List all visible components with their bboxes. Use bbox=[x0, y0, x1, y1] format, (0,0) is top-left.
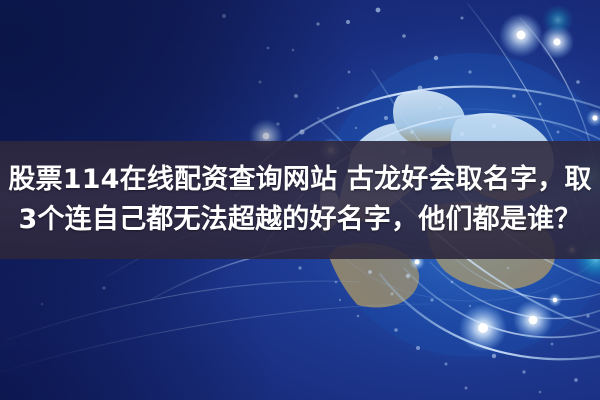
banner-image: 股票114在线配资查询网站 古龙好会取名字，取 3个连自己都无法超越的好名字，他… bbox=[0, 0, 600, 400]
headline-line-1: 股票114在线配资查询网站 古龙好会取名字，取 bbox=[8, 163, 591, 197]
headline: 股票114在线配资查询网站 古龙好会取名字，取 3个连自己都无法超越的好名字，他… bbox=[0, 141, 600, 259]
headline-line-2: 3个连自己都无法超越的好名字，他们都是谁？ bbox=[19, 203, 582, 237]
